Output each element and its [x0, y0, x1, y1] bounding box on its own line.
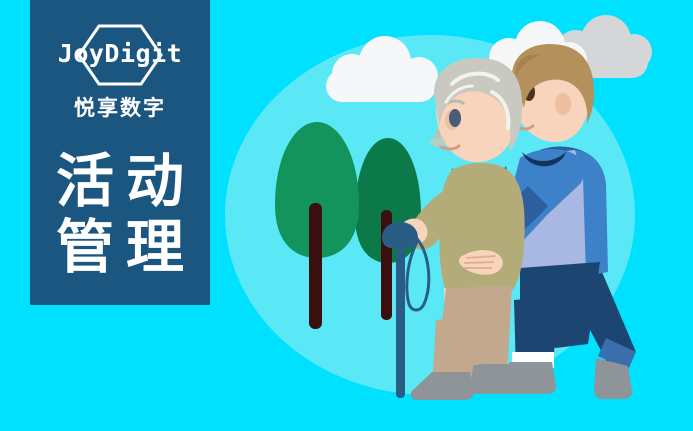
poster-canvas: JoyDigit 悦享数字 活动 管理 — [0, 0, 693, 431]
young-man-ear — [555, 93, 571, 115]
logo-wordmark: JoyDigit — [45, 38, 195, 70]
page-title-line-1: 活动 — [44, 148, 196, 214]
logo-subtitle: 悦享数字 — [74, 92, 166, 122]
cane-shaft — [396, 238, 405, 398]
page-title: 活动 管理 — [44, 148, 196, 280]
elderly-cheek — [430, 137, 446, 147]
elderly-eye — [449, 109, 461, 127]
logo: JoyDigit — [45, 24, 195, 86]
brand-panel: JoyDigit 悦享数字 活动 管理 — [30, 0, 210, 305]
page-title-line-2: 管理 — [44, 214, 196, 280]
